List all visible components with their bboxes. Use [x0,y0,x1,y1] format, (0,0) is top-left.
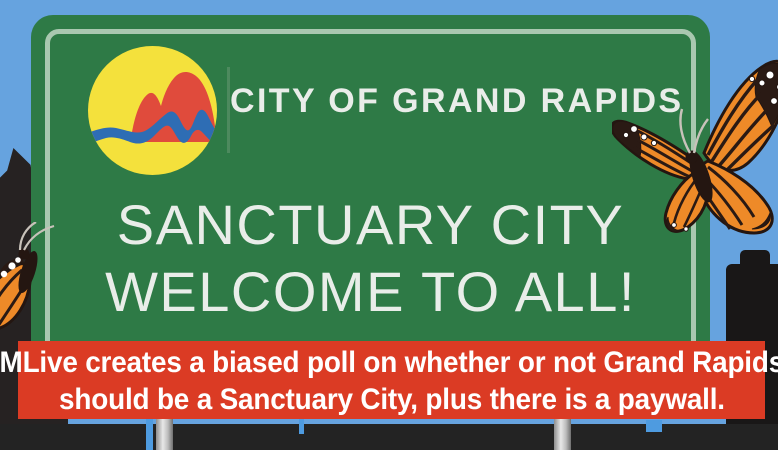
monarch-butterfly-left [0,222,62,342]
caption-line-2: should be a Sanctuary City, plus there i… [59,381,725,418]
grand-rapids-city-logo [88,46,217,175]
sign-headline-line-1: SANCTUARY CITY [31,195,710,255]
sign-headline-line-2: WELCOME TO ALL! [31,262,710,322]
monarch-butterfly-right [612,57,778,247]
background-accent-b [646,420,662,432]
background-accent-a [299,418,304,434]
meme-image: CITY OF GRAND RAPIDS SANCTUARY CITY WELC… [0,0,778,450]
caption-line-1: MLive creates a biased poll on whether o… [0,344,778,381]
caption-banner: MLive creates a biased poll on whether o… [18,341,765,419]
city-name-label: CITY OF GRAND RAPIDS [230,77,660,125]
